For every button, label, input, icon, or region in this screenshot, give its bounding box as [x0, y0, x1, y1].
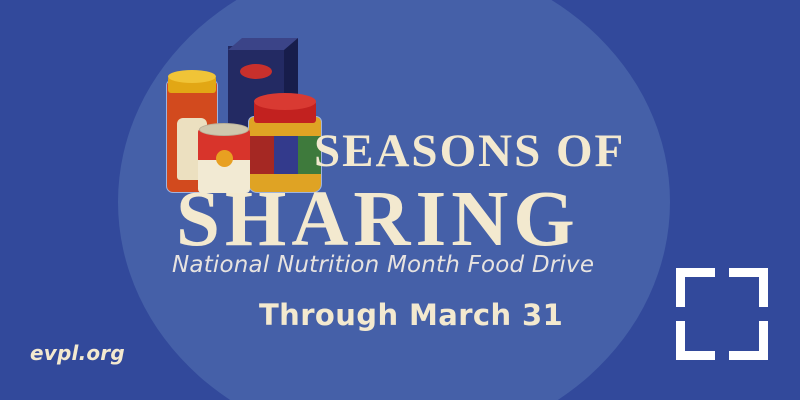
headline-line-one: SEASONS OF — [314, 128, 625, 175]
food-illustration — [160, 38, 325, 193]
bracket-top-right-icon — [729, 268, 768, 307]
can-gold-dot — [216, 150, 233, 167]
headline-line-two: SHARING — [176, 180, 580, 259]
jar-tall-lid-top — [168, 70, 216, 83]
bracket-bottom-right-icon — [729, 321, 768, 360]
poster-canvas: SEASONS OF SHARING National Nutrition Mo… — [0, 0, 800, 400]
bracket-top-left-icon — [676, 268, 715, 307]
website-url-text[interactable]: evpl.org — [30, 343, 125, 363]
corner-bracket-frame-icon — [676, 268, 768, 360]
cereal-box-label-oval — [240, 64, 272, 79]
bracket-bottom-left-icon — [676, 321, 715, 360]
jar-wide-striped-label — [249, 136, 322, 174]
poster-subtitle: National Nutrition Month Food Drive — [172, 254, 594, 277]
event-date-text: Through March 31 — [259, 301, 563, 330]
jar-wide-lid-top — [254, 93, 316, 110]
can-rim — [199, 123, 249, 136]
stripe-red — [249, 136, 274, 174]
stripe-blue — [274, 136, 299, 174]
